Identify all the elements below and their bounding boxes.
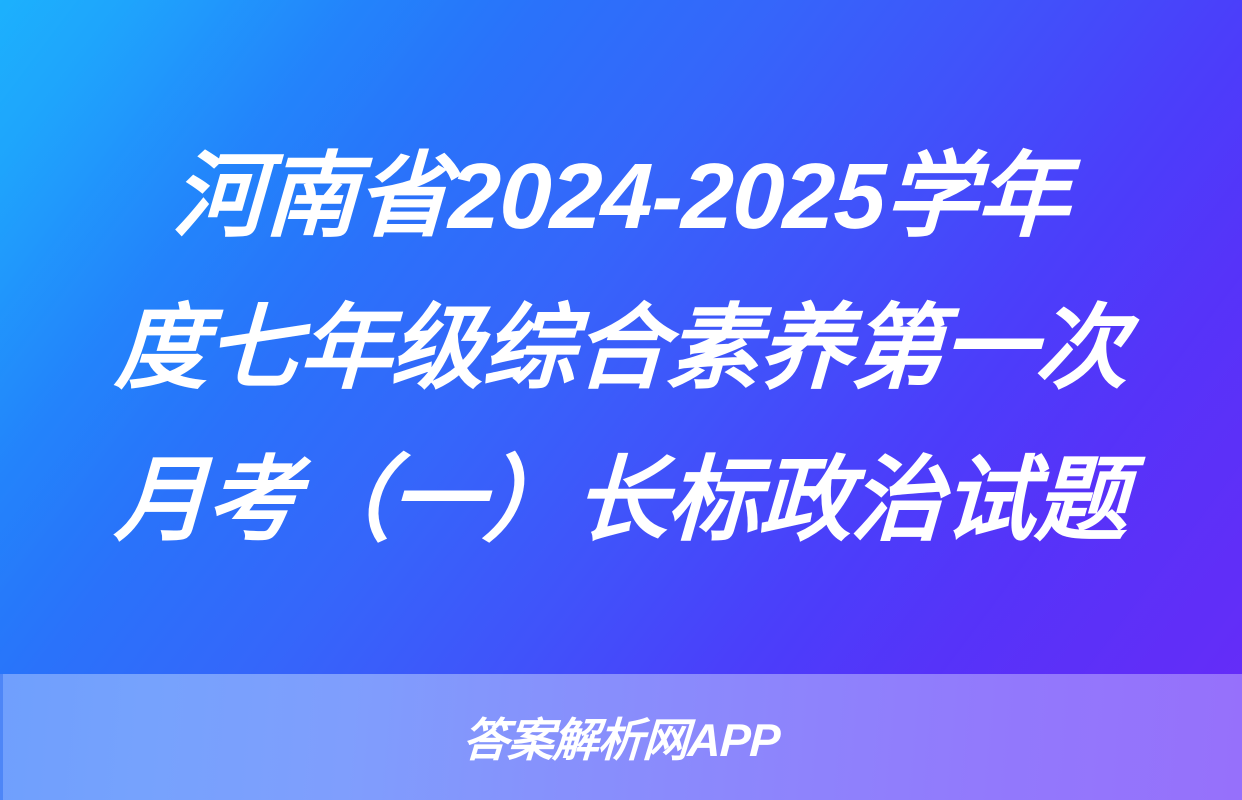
exam-cover-poster: 河南省2024-2025学年 度七年级综合素养第一次 月考（一）长标政治试题 答… [0,0,1242,800]
title-line-1: 河南省2024-2025学年 [170,120,1071,272]
title-line-3: 月考（一）长标政治试题 [112,424,1129,576]
watermark-footer-band: 答案解析网APP [0,674,1242,800]
title-line-2: 度七年级综合素养第一次 [112,272,1129,424]
poster-title-block: 河南省2024-2025学年 度七年级综合素养第一次 月考（一）长标政治试题 [0,0,1242,674]
brand-watermark-text: 答案解析网APP [461,704,781,770]
